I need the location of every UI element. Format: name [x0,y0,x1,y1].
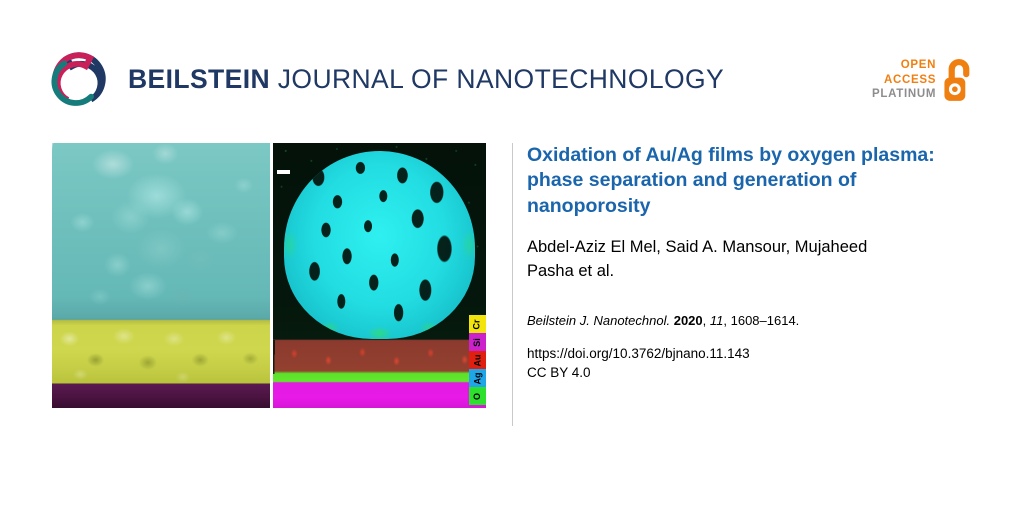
article-metadata: Oxidation of Au/Ag films by oxygen plasm… [527,143,989,380]
journal-title-bold: BEILSTEIN [128,64,270,94]
article-doi[interactable]: https://doi.org/10.3762/bjnano.11.143 [527,346,989,361]
open-access-labels: OPEN ACCESS PLATINUM [872,58,936,102]
edx-elemental-map-figure[interactable]: Cr Si Au Ag O [273,143,486,408]
sem-highlight-streaks [52,143,270,321]
legend-label-o: O [473,392,482,399]
legend-label-cr: Cr [473,319,482,329]
journal-brand[interactable]: BEILSTEIN JOURNAL OF NANOTECHNOLOGY [50,50,724,108]
legend-label-ag: Ag [473,372,482,384]
citation-year: 2020 [674,313,703,328]
edx-legend: Cr Si Au Ag O [469,315,486,405]
journal-title-light: JOURNAL OF NANOTECHNOLOGY [270,64,724,94]
journal-title: BEILSTEIN JOURNAL OF NANOTECHNOLOGY [128,66,724,93]
legend-label-au: Au [473,354,482,366]
edx-silver-oxide-dome [284,151,476,339]
citation-pages: 1608–1614. [731,313,800,328]
legend-label-si: Si [473,338,482,347]
citation-journal: Beilstein J. Nanotechnol. [527,313,670,328]
edx-oxygen-edge [284,151,476,339]
article-license[interactable]: CC BY 4.0 [527,365,989,380]
citation-volume: 11 [710,313,724,328]
open-access-line-access: ACCESS [872,73,936,88]
sem-micrograph-figure[interactable] [52,143,270,408]
legend-item-cr[interactable]: Cr [469,315,486,333]
sem-metal-layer-grains [52,319,270,385]
open-access-line-open: OPEN [872,58,936,73]
open-lock-icon [942,57,975,103]
article-authors: Abdel-Aziz El Mel, Said A. Mansour, Muja… [527,235,907,283]
legend-item-si[interactable]: Si [469,333,486,351]
legend-item-o[interactable]: O [469,387,486,405]
beilstein-spiral-logo-icon [50,50,108,108]
legend-item-au[interactable]: Au [469,351,486,369]
scale-bar [277,170,290,174]
open-access-badge[interactable]: OPEN ACCESS PLATINUM [872,57,975,103]
open-access-line-platinum: PLATINUM [872,87,936,102]
article-citation: Beilstein J. Nanotechnol. 2020, 11, 1608… [527,313,989,328]
edx-gold-layer [273,340,486,373]
legend-item-ag[interactable]: Ag [469,369,486,387]
page-header: BEILSTEIN JOURNAL OF NANOTECHNOLOGY OPEN… [0,0,1024,130]
article-title[interactable]: Oxidation of Au/Ag films by oxygen plasm… [527,143,979,219]
vertical-divider [512,143,513,426]
figure-area: Cr Si Au Ag O [52,143,486,408]
